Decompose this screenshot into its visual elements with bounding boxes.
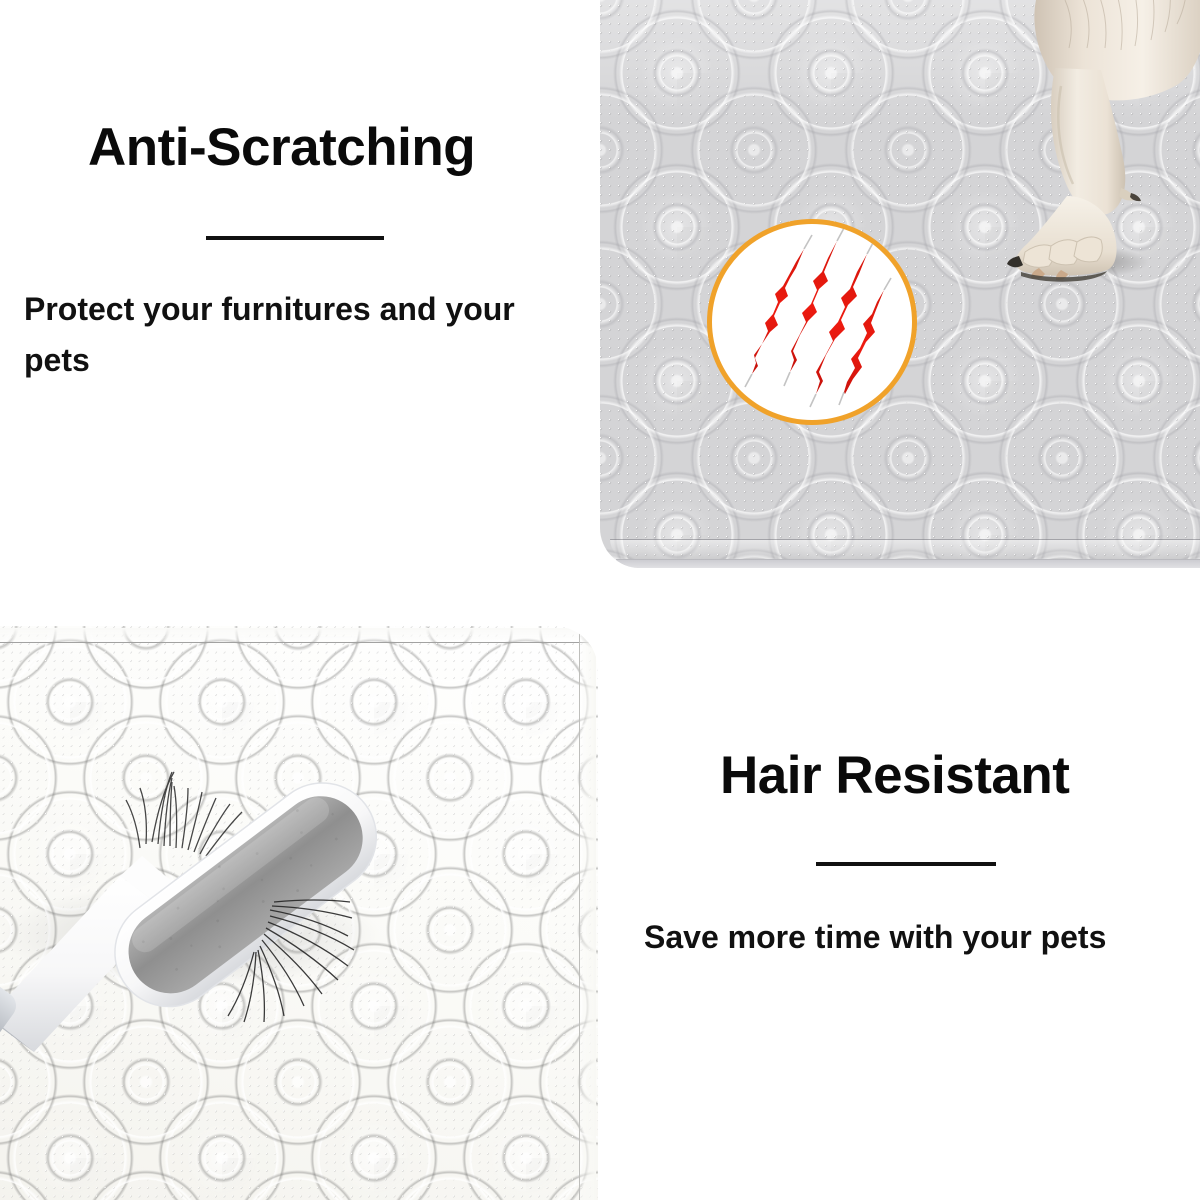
title-divider — [816, 862, 996, 866]
marketing-image-canvas: Anti-Scratching Protect your furnitures … — [0, 0, 1200, 1200]
feature-subtitle: Save more time with your pets — [644, 912, 1184, 964]
claw-scratch-icon — [712, 224, 912, 420]
feature-text-anti-scratching: Anti-Scratching Protect your furnitures … — [88, 120, 588, 387]
feature-subtitle: Protect your furnitures and your pets — [24, 284, 584, 388]
title-divider — [206, 236, 384, 240]
feature-title: Anti-Scratching — [88, 120, 588, 176]
mat-hem-stitch — [610, 539, 1200, 560]
mat-edge-binding — [579, 626, 596, 1200]
feature-text-hair-resistant: Hair Resistant Save more time with your … — [720, 748, 1190, 963]
feature-title: Hair Resistant — [720, 748, 1190, 804]
pet-hair-lint-brush — [0, 760, 440, 1060]
mat-hem-stitch — [0, 628, 590, 643]
dog-hind-leg-and-paw — [995, 0, 1200, 300]
claw-scratch-badge — [712, 224, 912, 420]
mat-edge-binding — [616, 559, 1200, 568]
